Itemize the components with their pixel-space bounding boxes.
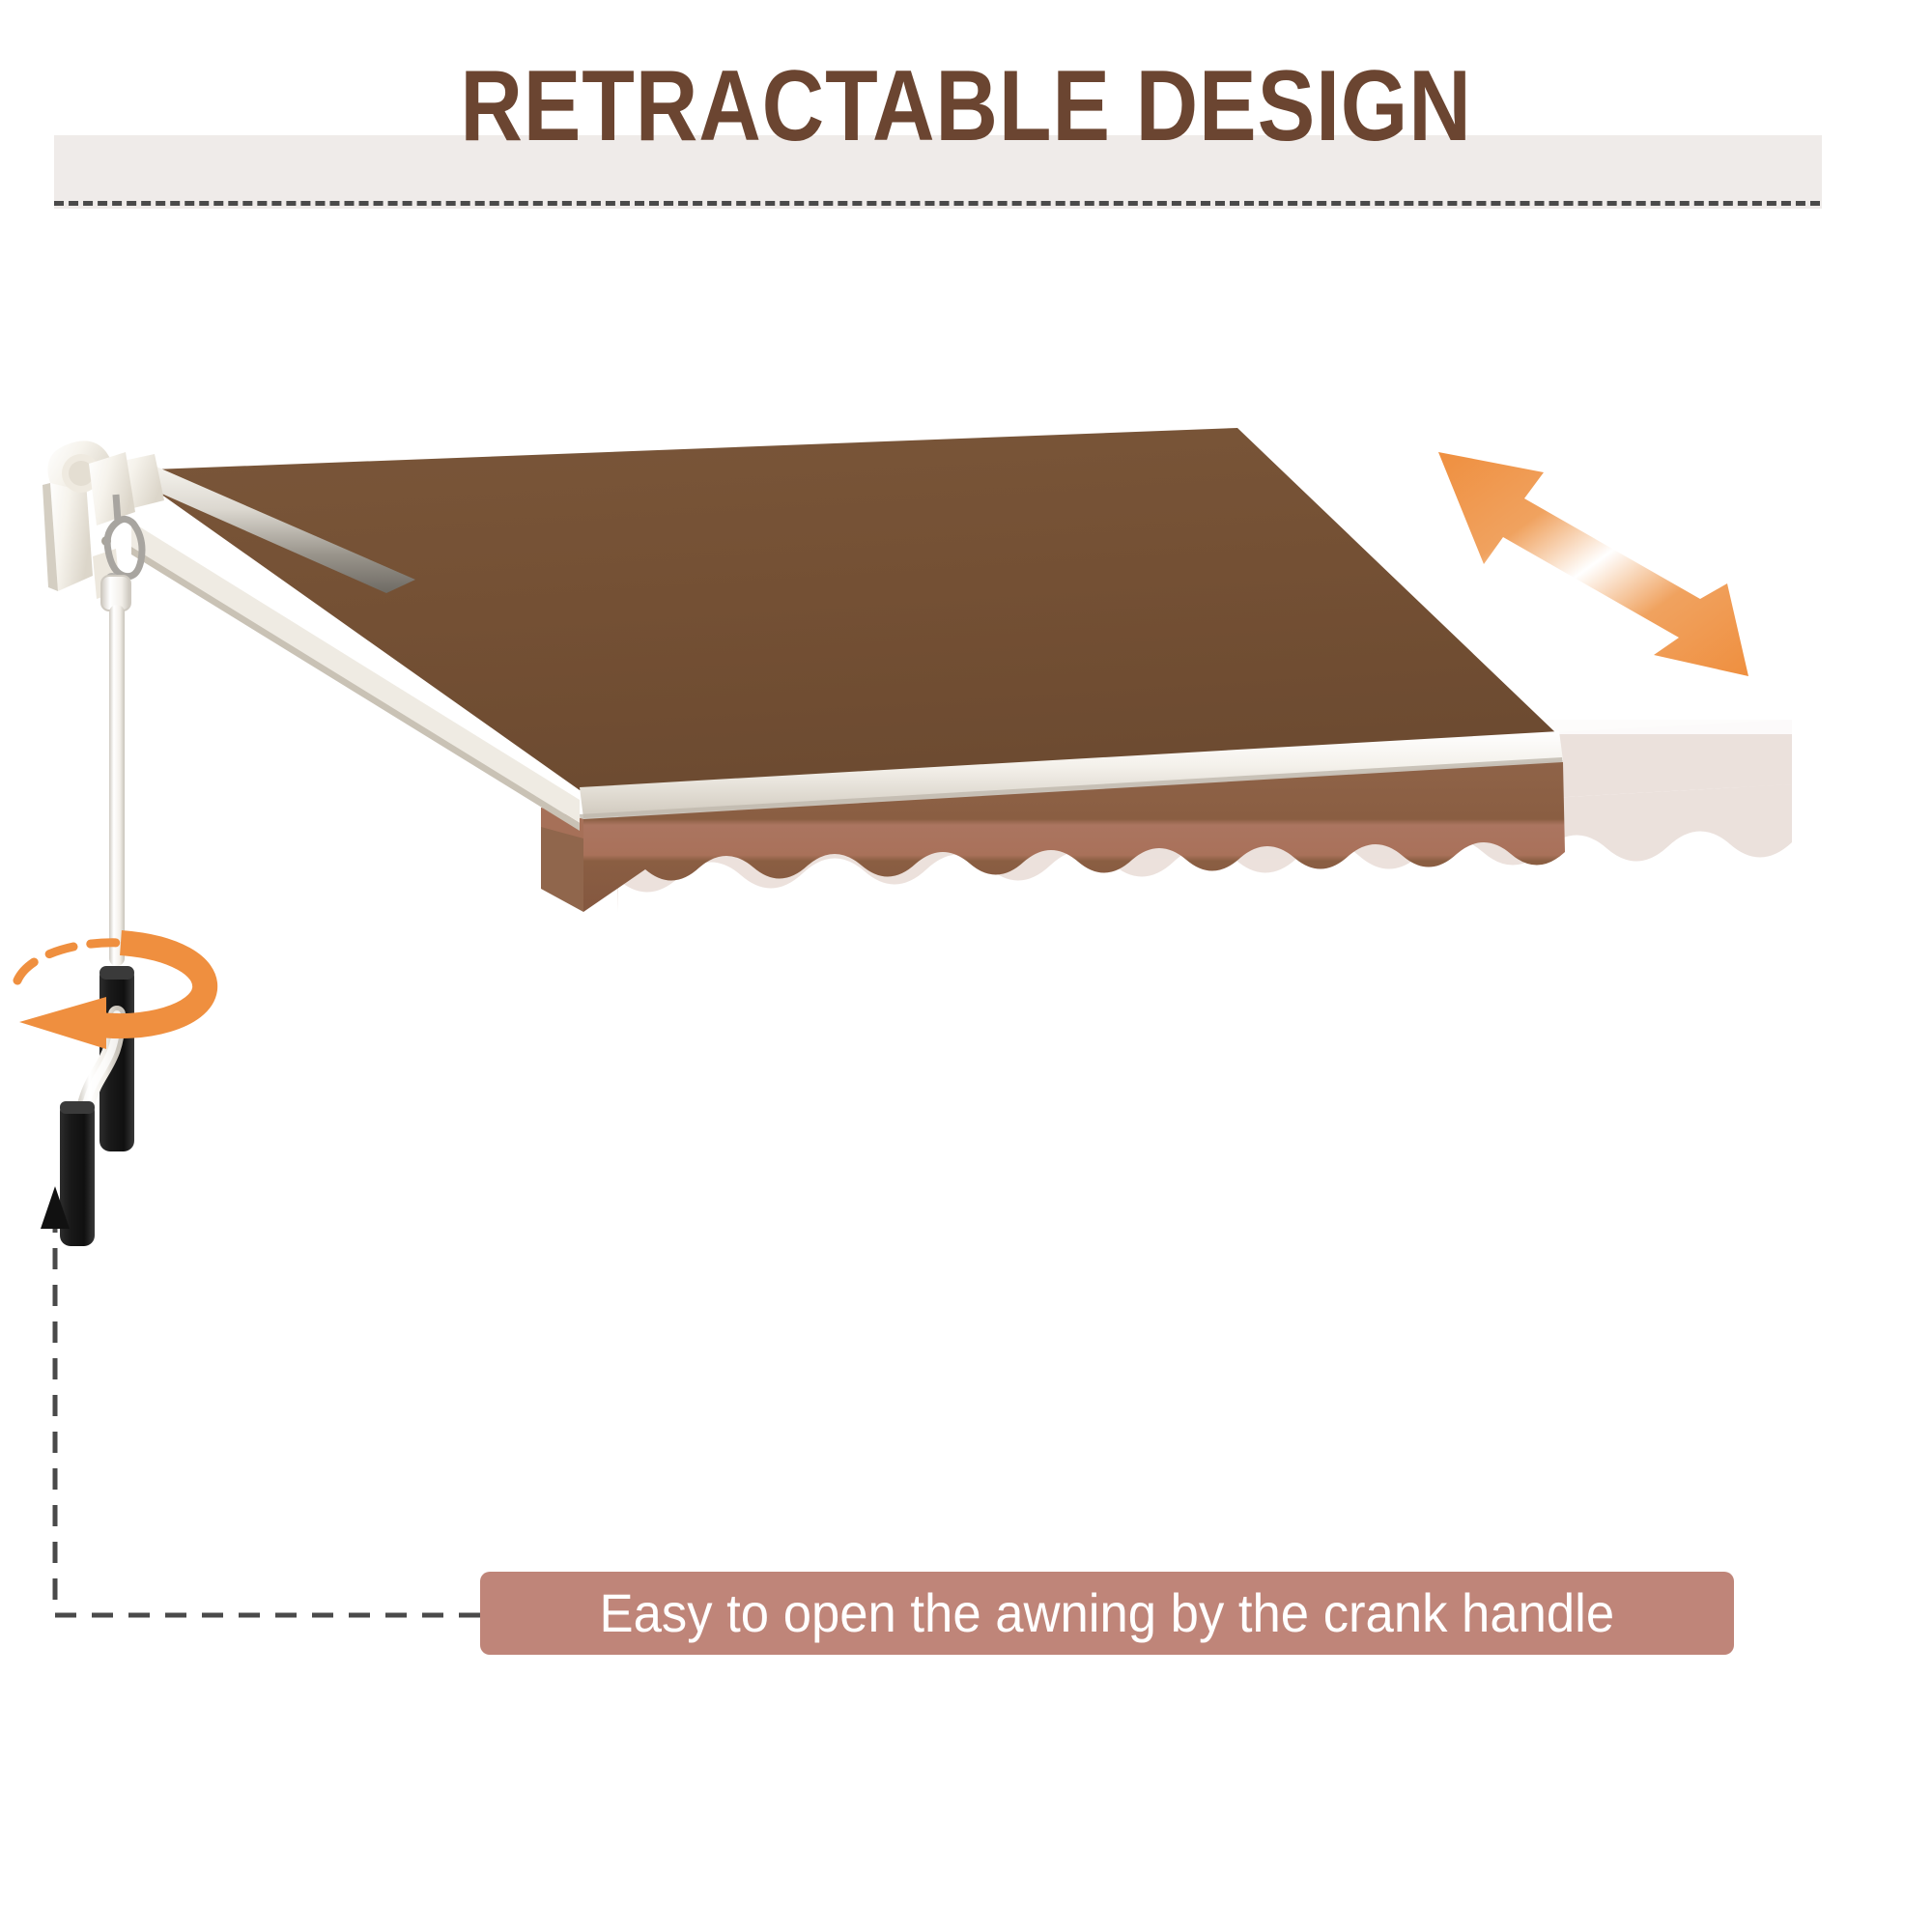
caption-text: Easy to open the awning by the crank han… <box>600 1584 1615 1642</box>
product-feature-slide: RETRACTABLE DESIGN <box>0 0 1932 1932</box>
crank-handle <box>60 576 134 1246</box>
extend-retract-arrow <box>1438 452 1748 676</box>
caption-badge: Easy to open the awning by the crank han… <box>480 1572 1734 1655</box>
caption-leader-line <box>41 1186 480 1615</box>
canopy-fabric <box>128 428 1557 790</box>
